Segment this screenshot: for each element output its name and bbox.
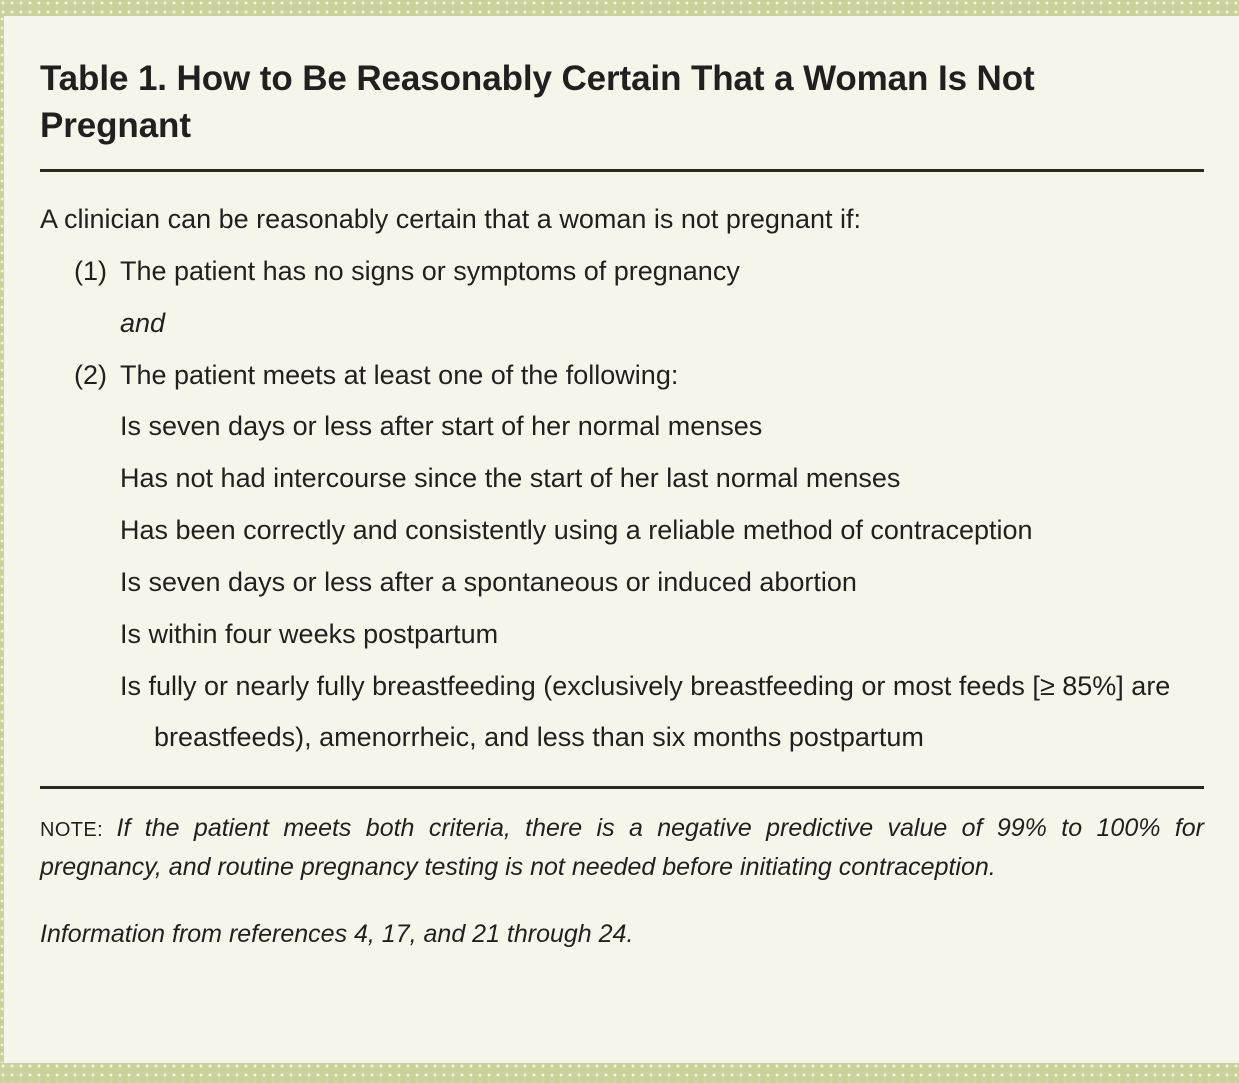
table-footnotes: NOTE: If the patient meets both criteria… <box>40 789 1204 954</box>
list-item-text: Has not had intercourse since the start … <box>120 453 1204 505</box>
table-sheet: Table 1. How to Be Reasonably Certain Th… <box>4 16 1239 1063</box>
table-body: A clinician can be reasonably certain th… <box>40 172 1204 786</box>
criterion-2: (2) The patient meets at least one of th… <box>40 350 1204 402</box>
list-item: Is within four weeks postpartum <box>120 609 1204 661</box>
criterion-2-text: The patient meets at least one of the fo… <box>120 350 1204 402</box>
source-line: Information from references 4, 17, and 2… <box>40 887 1204 954</box>
table-title: Table 1. How to Be Reasonably Certain Th… <box>40 40 1170 149</box>
note-label: NOTE: <box>40 819 117 841</box>
list-item: Is fully or nearly fully breastfeeding (… <box>120 661 1204 765</box>
note-paragraph: NOTE: If the patient meets both criteria… <box>40 809 1204 887</box>
list-item: Is seven days or less after start of her… <box>120 401 1204 453</box>
list-item-text: Has been correctly and consistently usin… <box>120 505 1204 557</box>
table-content: Table 1. How to Be Reasonably Certain Th… <box>40 40 1204 954</box>
decorative-bottom-band <box>0 1063 1239 1083</box>
list-item: Has not had intercourse since the start … <box>120 453 1204 505</box>
criterion-1: (1) The patient has no signs or symptoms… <box>40 246 1204 298</box>
list-item: Has been correctly and consistently usin… <box>120 505 1204 557</box>
list-item: Is seven days or less after a spontaneou… <box>120 557 1204 609</box>
criterion-2-options: Is seven days or less after start of her… <box>40 401 1204 764</box>
criterion-1-marker: (1) <box>74 246 120 298</box>
list-item-text: Is seven days or less after a spontaneou… <box>120 557 1204 609</box>
criterion-1-text: The patient has no signs or symptoms of … <box>120 246 1204 298</box>
note-text: If the patient meets both criteria, ther… <box>40 814 1204 881</box>
lead-sentence: A clinician can be reasonably certain th… <box>40 194 1204 246</box>
criterion-2-marker: (2) <box>74 350 120 402</box>
table-figure: Table 1. How to Be Reasonably Certain Th… <box>0 0 1239 1083</box>
list-item-text: Is within four weeks postpartum <box>120 609 1204 661</box>
conjunction-and: and <box>40 298 1204 350</box>
list-item-text: Is fully or nearly fully breastfeeding (… <box>120 661 1204 765</box>
decorative-top-band <box>0 0 1239 16</box>
list-item-text: Is seven days or less after start of her… <box>120 401 1204 453</box>
